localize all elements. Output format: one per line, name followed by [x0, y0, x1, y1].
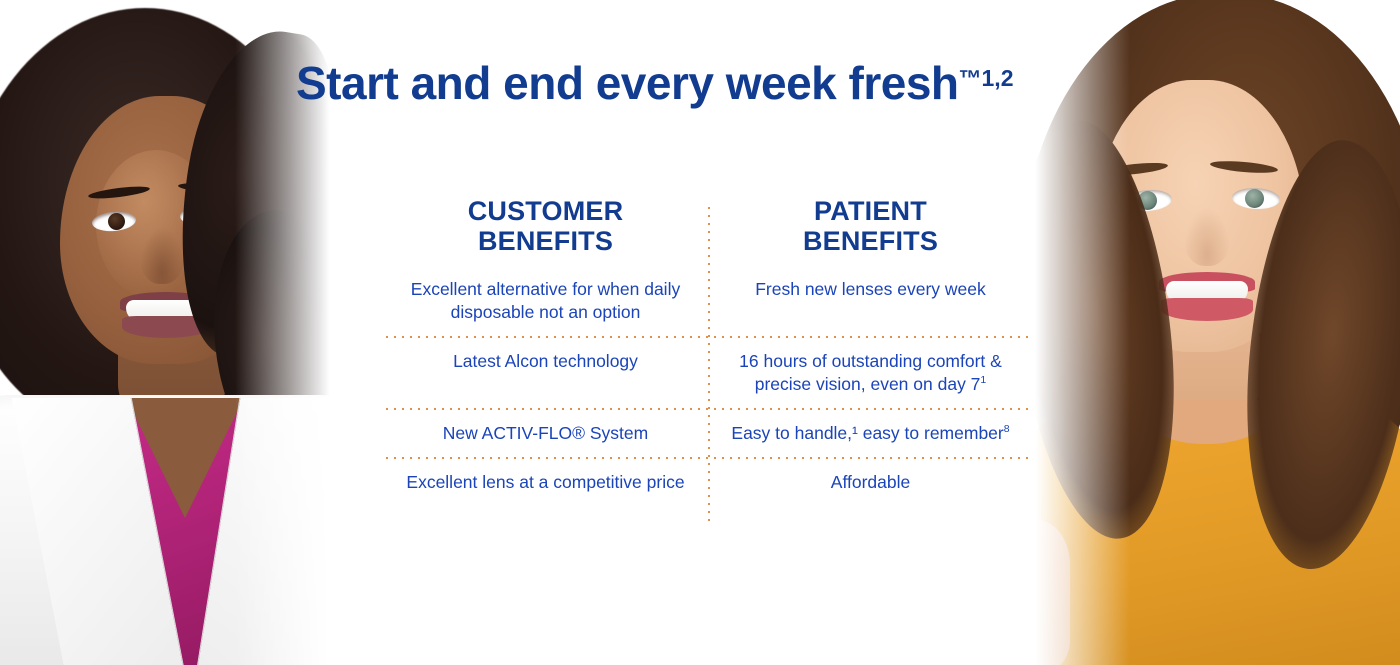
patient-benefit-1-text: Fresh new lenses every week [755, 279, 986, 299]
patient-header-line-2: BENEFITS [722, 226, 1019, 256]
right-model-photo [1020, 0, 1400, 665]
patient-benefit-2-ref: 1 [980, 374, 986, 386]
right-photo-stage [1020, 0, 1400, 665]
patient-benefit-1: Fresh new lenses every week [708, 266, 1033, 336]
customer-header-line-2: BENEFITS [397, 226, 694, 256]
customer-benefit-4: Excellent lens at a competitive price [383, 459, 708, 506]
patient-benefit-3-text: Easy to handle,¹ easy to remember [731, 423, 1003, 443]
right-model-nose [1184, 208, 1230, 266]
patient-benefit-3: Easy to handle,¹ easy to remember8 [708, 410, 1033, 457]
patient-header-line-1: PATIENT [722, 196, 1019, 226]
patient-benefit-2-text: 16 hours of outstanding comfort & precis… [739, 351, 1002, 393]
left-model-nose [140, 228, 184, 284]
customer-benefit-3: New ACTIV-FLO® System [383, 410, 708, 457]
patient-benefit-4: Affordable [708, 459, 1033, 506]
headline-text: Start and end every week fresh [296, 57, 959, 109]
right-model-lower-lip [1161, 298, 1253, 321]
promotional-banner: Start and end every week fresh™1,2 CUSTO… [0, 0, 1400, 665]
patient-benefit-4-text: Affordable [831, 472, 910, 492]
customer-header-line-1: CUSTOMER [397, 196, 694, 226]
left-model-photo [0, 0, 345, 665]
page-title: Start and end every week fresh™1,2 [296, 56, 1014, 110]
patient-benefit-3-ref: 8 [1004, 423, 1010, 435]
right-model-iris-right [1245, 189, 1264, 208]
headline-reference-marks: ™1,2 [959, 65, 1014, 91]
patient-benefit-2: 16 hours of outstanding comfort & precis… [708, 338, 1033, 408]
customer-benefits-header: CUSTOMER BENEFITS [383, 196, 708, 266]
patient-benefits-header: PATIENT BENEFITS [708, 196, 1033, 266]
customer-benefit-1: Excellent alternative for when daily dis… [383, 266, 708, 336]
customer-benefit-2: Latest Alcon technology [383, 338, 708, 408]
benefits-table: CUSTOMER BENEFITS PATIENT BENEFITS Excel… [383, 196, 1033, 507]
left-model-iris-left [108, 213, 125, 230]
right-model-arm [1020, 520, 1070, 665]
column-divider [708, 204, 710, 526]
left-photo-stage [0, 0, 345, 665]
